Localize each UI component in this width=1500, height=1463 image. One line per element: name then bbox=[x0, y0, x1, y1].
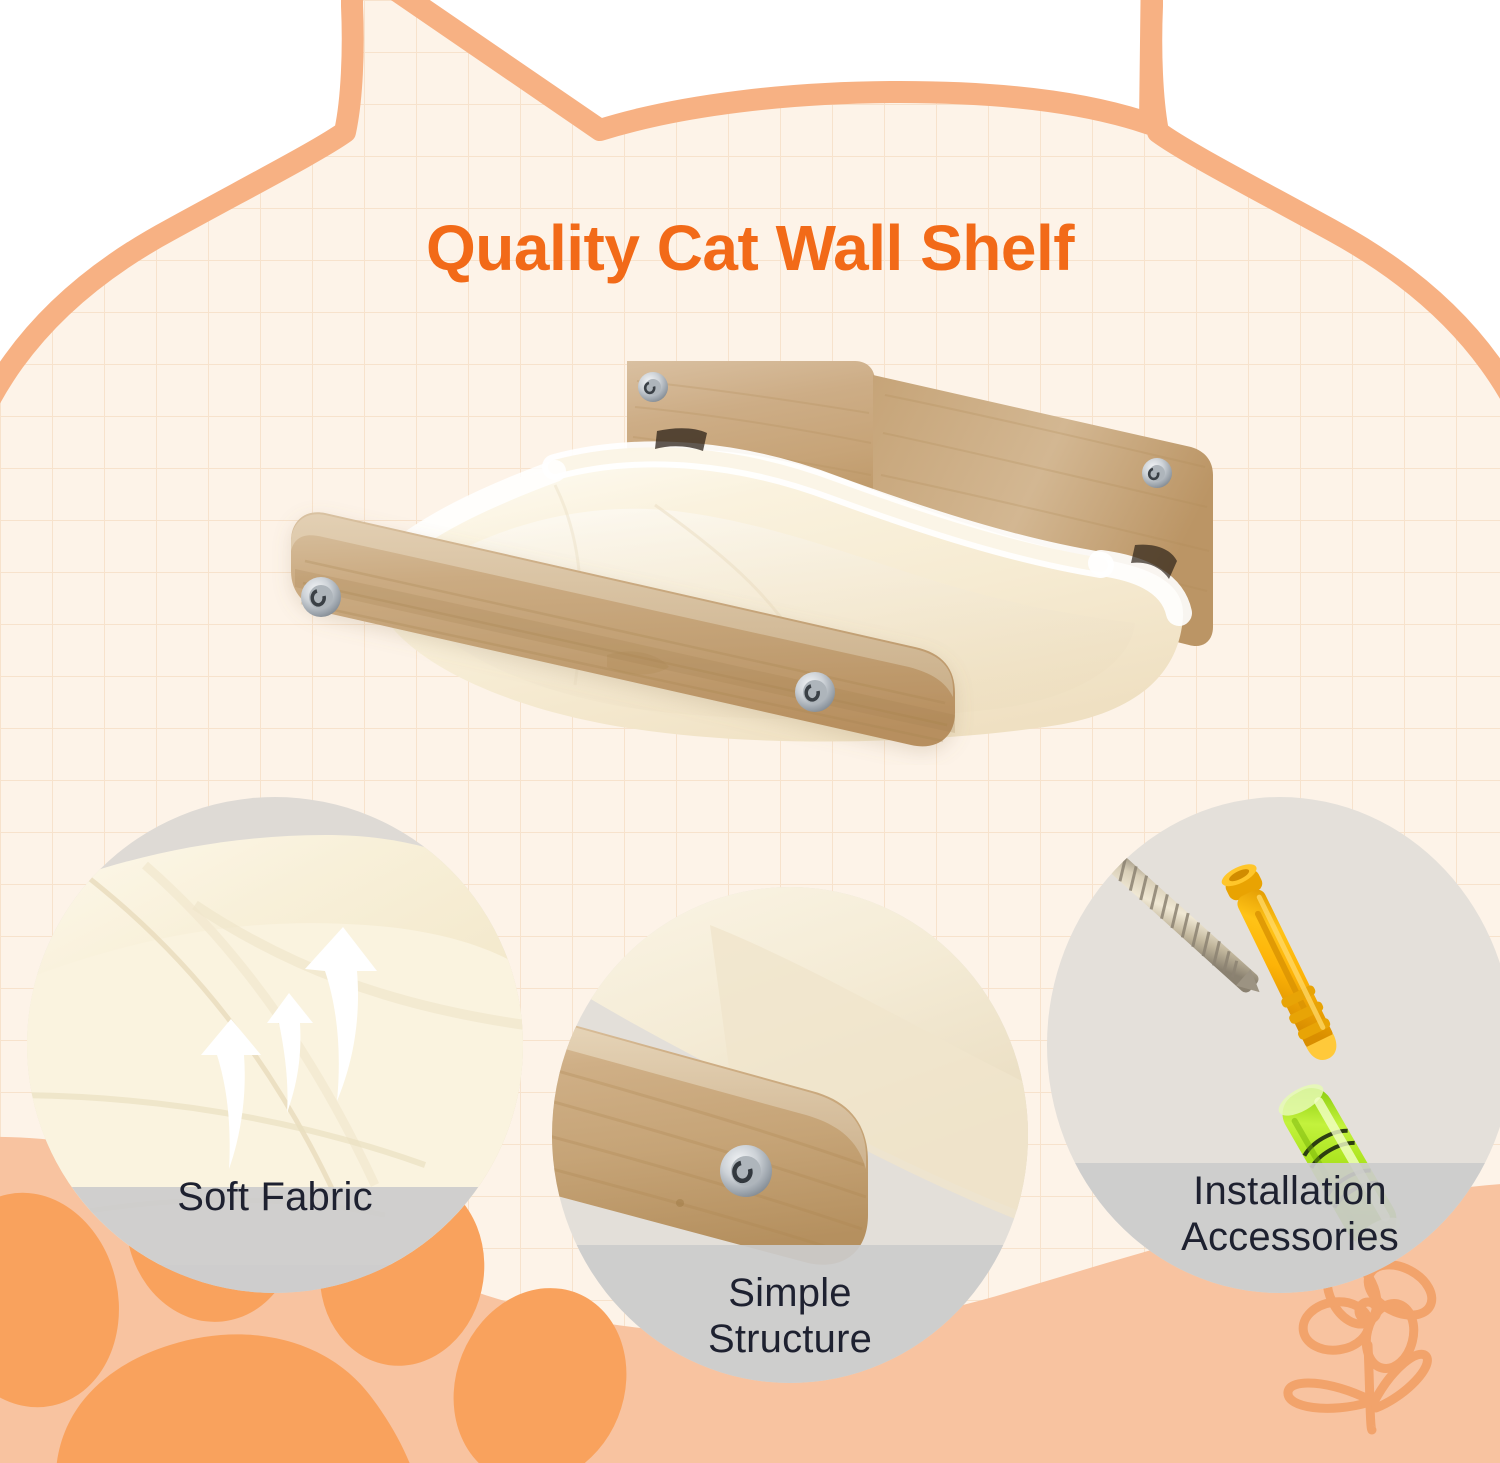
hero-product-image bbox=[255, 355, 1245, 765]
page-title: Quality Cat Wall Shelf bbox=[0, 211, 1500, 285]
feature-label-installation-accessories: Installation Accessories bbox=[1080, 1168, 1500, 1261]
screw-fastener bbox=[795, 672, 835, 712]
screw-fastener bbox=[638, 372, 668, 402]
feature-label-simple-structure: Simple Structure bbox=[580, 1270, 1000, 1363]
screw-fastener bbox=[1142, 458, 1172, 488]
screw-fastener bbox=[301, 577, 341, 617]
marketing-banner: Soft Fabric bbox=[0, 0, 1500, 1463]
screw-fastener bbox=[720, 1145, 772, 1197]
feature-label-soft-fabric: Soft Fabric bbox=[60, 1174, 490, 1220]
